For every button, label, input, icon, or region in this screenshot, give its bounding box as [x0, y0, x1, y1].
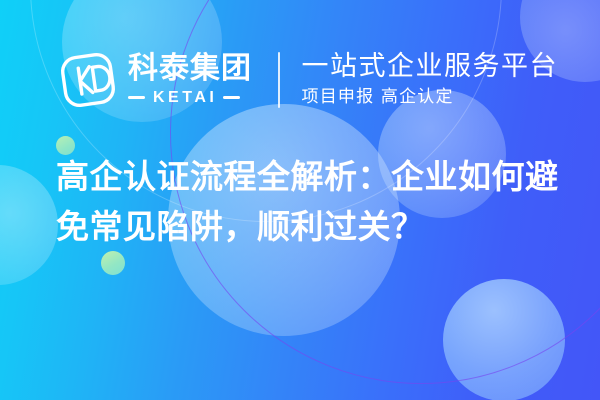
logo-company-name-en-row: KETAI — [128, 89, 252, 107]
green-dot-lower — [101, 251, 125, 275]
logo-rule-right-icon — [223, 96, 240, 99]
tagline-sub: 项目申报 高企认定 — [302, 88, 559, 107]
headline: 高企认证流程全解析：企业如何避 免常见陷阱，顺利过关？ — [56, 152, 572, 252]
left-edge-circle — [0, 165, 58, 285]
banner-header: 科泰集团 KETAI 一站式企业服务平台 项目申报 高企认定 — [58, 45, 558, 115]
headline-line-2: 免常见陷阱，顺利过关？ — [56, 202, 572, 252]
ketai-kd-monogram-icon — [58, 50, 118, 110]
bottom-right-circle — [443, 279, 565, 400]
logo-company-name-en: KETAI — [153, 89, 217, 107]
logo-wordmark: 科泰集团 KETAI — [128, 54, 252, 107]
header-divider — [278, 52, 280, 108]
headline-line-1: 高企认证流程全解析：企业如何避 — [56, 152, 572, 202]
promo-banner: 科泰集团 KETAI 一站式企业服务平台 项目申报 高企认定 高企认证流程全解析… — [0, 0, 600, 400]
logo-company-name-cn: 科泰集团 — [128, 54, 252, 84]
tagline-main: 一站式企业服务平台 — [302, 53, 559, 82]
tagline-block: 一站式企业服务平台 项目申报 高企认定 — [302, 53, 559, 107]
logo-rule-left-icon — [128, 96, 145, 99]
